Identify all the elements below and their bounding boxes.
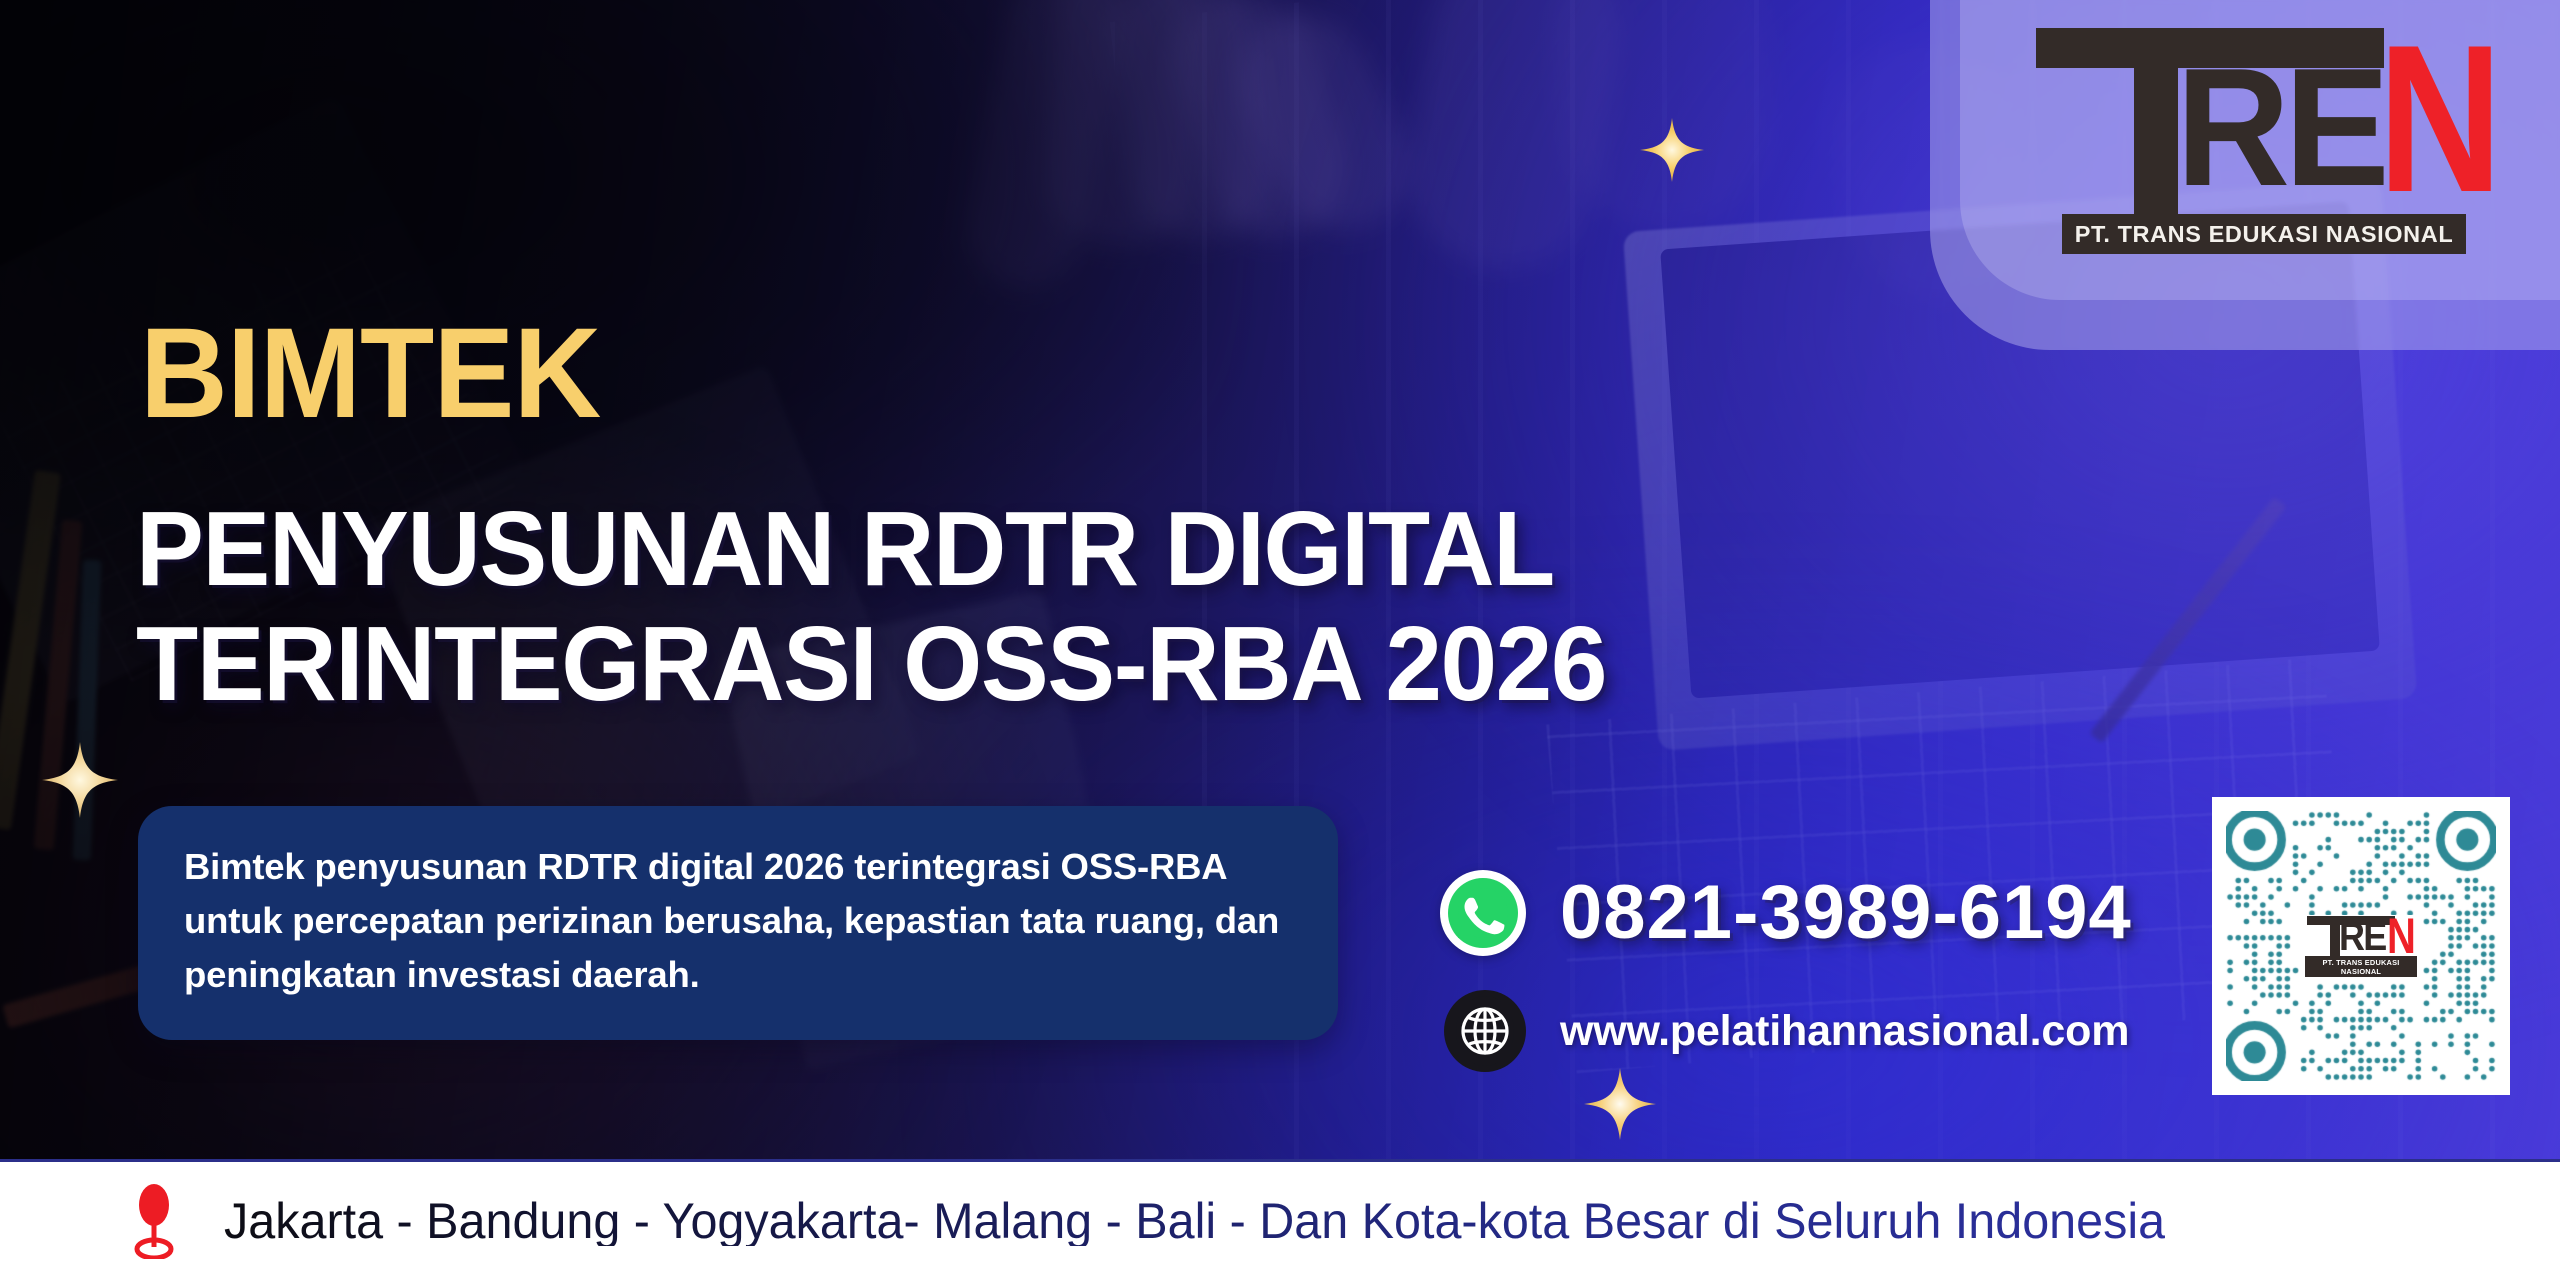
globe-icon[interactable] bbox=[1444, 990, 1526, 1072]
qr-code[interactable]: RE N PT. TRANS EDUKASI NASIONAL bbox=[2212, 797, 2510, 1095]
promo-banner: RE N PT. TRANS EDUKASI NASIONAL BIMTEK P… bbox=[0, 0, 2560, 1280]
tren-logo: RE N PT. TRANS EDUKASI NASIONAL bbox=[2026, 24, 2496, 264]
whatsapp-number[interactable]: 0821-3989-6194 bbox=[1560, 875, 2132, 951]
description-text: Bimtek penyusunan RDTR digital 2026 teri… bbox=[184, 840, 1292, 1002]
description-card: Bimtek penyusunan RDTR digital 2026 teri… bbox=[138, 806, 1338, 1040]
logo-letter-n: N bbox=[2378, 26, 2502, 212]
logo-tagline: PT. TRANS EDUKASI NASIONAL bbox=[2062, 214, 2466, 254]
qr-center-logo: RE N PT. TRANS EDUKASI NASIONAL bbox=[2299, 915, 2423, 977]
title-line-1: PENYUSUNAN RDTR DIGITAL bbox=[136, 492, 1710, 607]
whatsapp-row[interactable]: 0821-3989-6194 bbox=[1440, 870, 2340, 956]
qr-logo-letters-re: RE bbox=[2339, 920, 2385, 954]
title-line-2: TERINTEGRASI OSS-RBA 2026 bbox=[136, 607, 1710, 722]
qr-tren-wordmark: RE N bbox=[2303, 915, 2419, 956]
whatsapp-icon[interactable] bbox=[1440, 870, 1526, 956]
location-pin-icon bbox=[130, 1183, 178, 1259]
logo-letters-re: RE bbox=[2176, 52, 2384, 202]
qr-matrix: RE N PT. TRANS EDUKASI NASIONAL bbox=[2226, 811, 2496, 1081]
contact-block: 0821-3989-6194 www.pelatihannasional.com bbox=[1440, 870, 2340, 1072]
cities-list: Jakarta - Bandung - Yogyakarta- Malang -… bbox=[224, 1196, 2165, 1246]
website-row[interactable]: www.pelatihannasional.com bbox=[1440, 990, 2340, 1072]
logo-letter-t-stem bbox=[2134, 62, 2178, 214]
locations-bar: Jakarta - Bandung - Yogyakarta- Malang -… bbox=[0, 1159, 2560, 1280]
eyebrow-bimtek: BIMTEK bbox=[140, 310, 600, 438]
tren-wordmark: RE N PT. TRANS EDUKASI NASIONAL bbox=[2026, 24, 2496, 214]
qr-logo-letter-n: N bbox=[2387, 915, 2416, 957]
website-url[interactable]: www.pelatihannasional.com bbox=[1560, 1010, 2129, 1053]
page-title: PENYUSUNAN RDTR DIGITAL TERINTEGRASI OSS… bbox=[136, 492, 1776, 722]
